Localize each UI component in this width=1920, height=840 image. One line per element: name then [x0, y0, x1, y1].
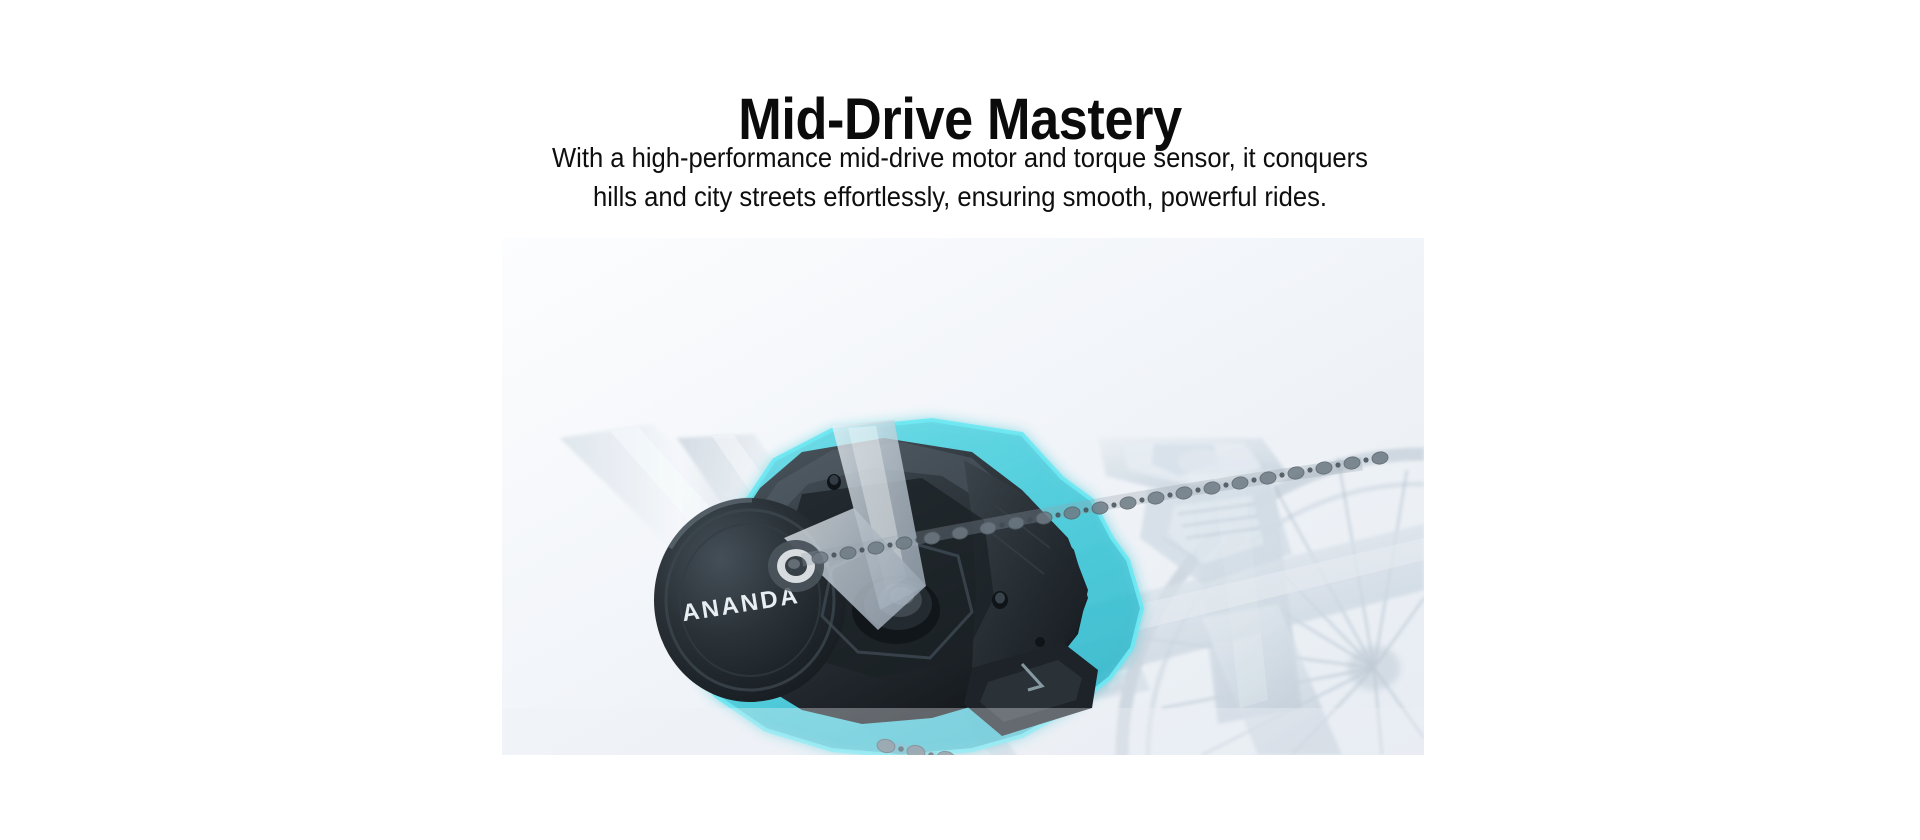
pedal-axle [768, 540, 824, 592]
product-image: ANANDA [502, 238, 1424, 755]
subtitle-line-1: With a high-performance mid-drive motor … [67, 138, 1853, 177]
product-feature-section: Mid-Drive Mastery With a high-performanc… [0, 0, 1920, 840]
page-subtitle: With a high-performance mid-drive motor … [67, 138, 1853, 216]
subtitle-line-2: hills and city streets effortlessly, ens… [67, 177, 1853, 216]
